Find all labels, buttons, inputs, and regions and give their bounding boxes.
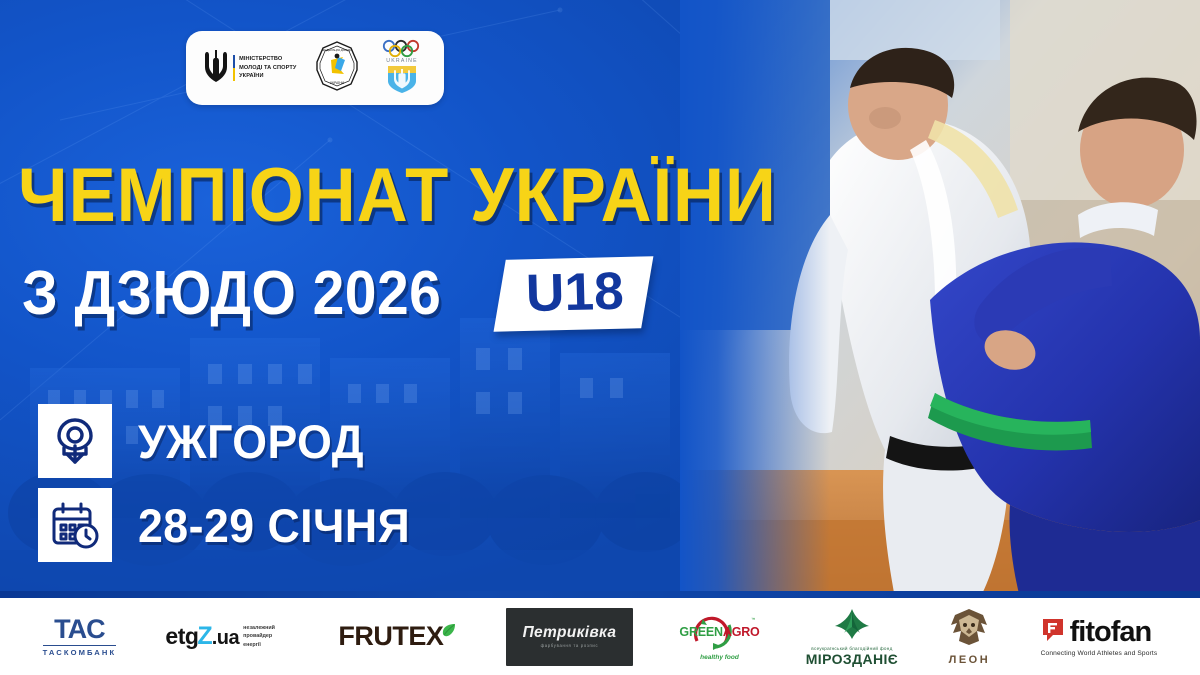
age-category-badge: U18 (493, 256, 653, 331)
mirozdanie-logo[interactable]: всеукраїнський благодійний фонд МІРОЗДАН… (806, 608, 898, 666)
etg-ua-logo[interactable]: etg Z .ua незалежний провайдер енергії (165, 608, 289, 666)
event-date-label: 28-29 СІЧНЯ (138, 498, 410, 553)
ministry-line-2: МОЛОДІ ТА СПОРТУ (239, 64, 296, 73)
ministry-line-3: УКРАЇНИ (239, 72, 296, 81)
green-agro-part-green: GREEN (679, 625, 722, 639)
etg-tagline: незалежний провайдер енергії (243, 624, 289, 648)
leaf-icon (441, 623, 456, 638)
calendar-clock-icon (50, 501, 100, 549)
svg-text:™: ™ (751, 617, 756, 622)
event-date-row: 28-29 СІЧНЯ (38, 488, 425, 562)
judo-athletes-photo (680, 0, 1200, 598)
fitofan-logo[interactable]: fitofan Connecting World Athletes and Sp… (1041, 608, 1158, 666)
petrykivka-wordmark: Петриківка (523, 625, 617, 641)
taskombank-logo[interactable]: TAC ТАСКОМБАНК (43, 608, 117, 666)
petrykivka-tagline: фарбування та розпис (541, 643, 599, 648)
ministry-logo: МІНІСТЕРСТВО МОЛОДІ ТА СПОРТУ УКРАЇНИ (203, 49, 296, 88)
etg-part1: etg (165, 625, 198, 648)
page-subtitle: З ДЗЮДО 2026 (22, 258, 441, 329)
etg-accent-letter: Z (197, 624, 212, 649)
location-pin-icon (52, 416, 98, 466)
green-agro-wordmark: GREENAGRO (679, 626, 759, 639)
ukraine-trident-icon (203, 49, 229, 88)
date-icon-tile (38, 488, 112, 562)
organizer-logos-panel: МІНІСТЕРСТВО МОЛОДІ ТА СПОРТУ УКРАЇНИ ФЕ… (186, 31, 444, 105)
fitofan-wordmark: fitofan (1070, 618, 1152, 647)
etg-wordmark: etg Z .ua (165, 624, 239, 649)
fitofan-tagline: Connecting World Athletes and Sports (1041, 650, 1158, 657)
judo-federation-seal-icon: ФЕДЕРАЦІЯ ДЗЮДО УКРАЇНИ (311, 40, 363, 97)
svg-text:УКРАЇНИ: УКРАЇНИ (330, 81, 345, 85)
leon-wordmark: ЛЕОН (949, 654, 991, 666)
ministry-line-1: МІНІСТЕРСТВО (239, 55, 296, 64)
mirozdanie-tagline: всеукраїнський благодійний фонд (811, 646, 892, 651)
poster-root: МІНІСТЕРСТВО МОЛОДІ ТА СПОРТУ УКРАЇНИ ФЕ… (0, 0, 1200, 675)
event-location-row: УЖГОРОД (38, 404, 425, 478)
etg-part2: .ua (212, 628, 239, 648)
green-agro-tagline: healthy food (700, 654, 739, 661)
green-agro-part-red: AGRO (723, 625, 760, 639)
event-location-label: УЖГОРОД (138, 414, 364, 469)
sponsor-bar: TAC ТАСКОМБАНК etg Z .ua незалежний пров… (0, 598, 1200, 675)
green-agro-ring-mark: ™ GREENAGRO (683, 613, 757, 653)
green-agro-logo[interactable]: ™ GREENAGRO healthy food (683, 608, 757, 666)
leon-logo[interactable]: ЛЕОН (947, 608, 991, 666)
frutex-logo[interactable]: FRUTEX (338, 608, 456, 666)
svg-text:ФЕДЕРАЦІЯ ДЗЮДО: ФЕДЕРАЦІЯ ДЗЮДО (322, 48, 353, 52)
lion-head-icon (947, 607, 991, 652)
svg-text:UKRAINE: UKRAINE (386, 58, 417, 64)
taskombank-mark: TAC (54, 616, 105, 643)
olympic-rings-icon: UKRAINE (377, 37, 427, 100)
ministry-flag-bar (233, 55, 235, 81)
taskombank-name: ТАСКОМБАНК (43, 645, 117, 657)
petrykivka-logo[interactable]: Петриківка фарбування та розпис (506, 608, 634, 666)
subtitle-row: З ДЗЮДО 2026 U18 (22, 258, 647, 330)
noc-ukraine-logo: UKRAINE (377, 37, 427, 100)
ministry-logo-text: МІНІСТЕРСТВО МОЛОДІ ТА СПОРТУ УКРАЇНИ (239, 55, 296, 81)
location-icon-tile (38, 404, 112, 478)
frutex-wordmark: FRUTEX (338, 623, 443, 650)
fitofan-mark-row: fitofan (1041, 617, 1152, 648)
fitofan-chat-icon (1041, 617, 1065, 648)
judo-federation-logo: ФЕДЕРАЦІЯ ДЗЮДО УКРАЇНИ (311, 40, 363, 97)
page-title: ЧЕМПІОНАТ УКРАЇНИ (18, 152, 777, 239)
age-category-label: U18 (525, 264, 624, 322)
event-details: УЖГОРОД (38, 404, 425, 572)
sponsor-bar-top-edge (0, 591, 1200, 598)
pine-emblem-icon (829, 608, 875, 645)
mirozdanie-wordmark: МІРОЗДАНІЄ (806, 652, 898, 666)
